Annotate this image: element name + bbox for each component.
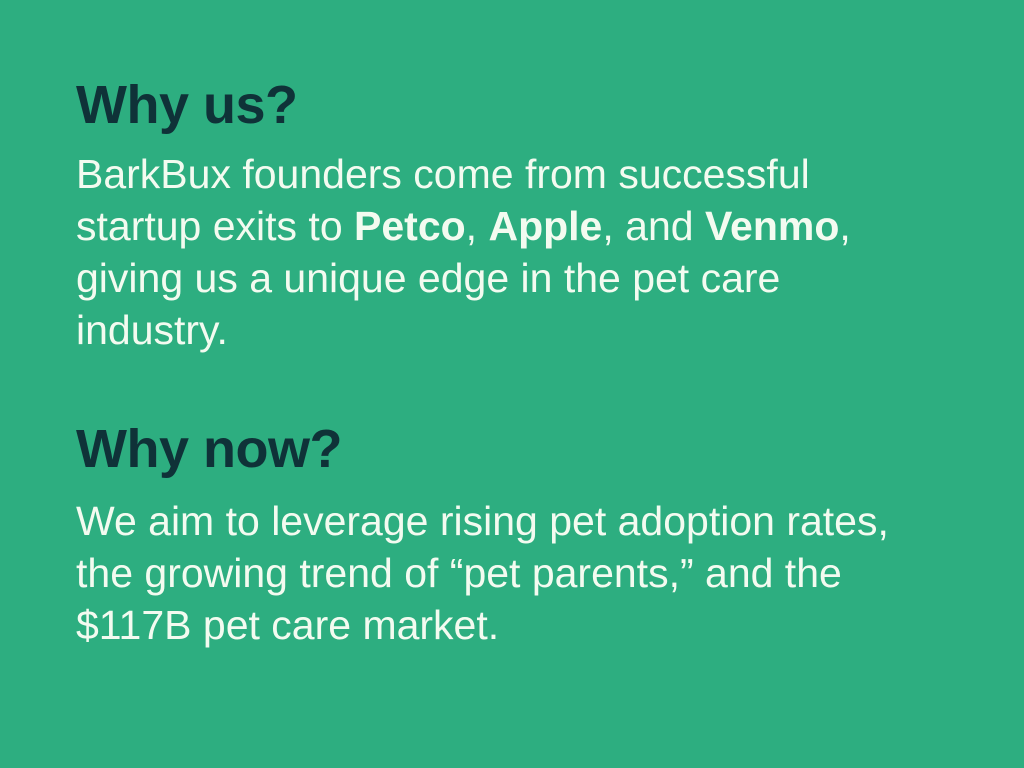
- heading-why-us: Why us?: [76, 76, 936, 134]
- body-why-now: We aim to leverage rising pet adoption r…: [76, 495, 921, 651]
- emphasized-text: Petco: [354, 203, 466, 249]
- slide-canvas: Why us? BarkBux founders come from succe…: [0, 0, 1024, 768]
- body-text-run: ,: [466, 203, 489, 249]
- section-why-us: Why us? BarkBux founders come from succe…: [76, 76, 936, 356]
- heading-why-now: Why now?: [76, 420, 936, 478]
- emphasized-text: Apple: [488, 203, 602, 249]
- section-why-now: Why now? We aim to leverage rising pet a…: [76, 420, 936, 650]
- body-text-run: We aim to leverage rising pet adoption r…: [76, 498, 889, 648]
- emphasized-text: Venmo: [705, 203, 839, 249]
- body-text-run: , and: [602, 203, 705, 249]
- body-why-us: BarkBux founders come from successful st…: [76, 148, 921, 356]
